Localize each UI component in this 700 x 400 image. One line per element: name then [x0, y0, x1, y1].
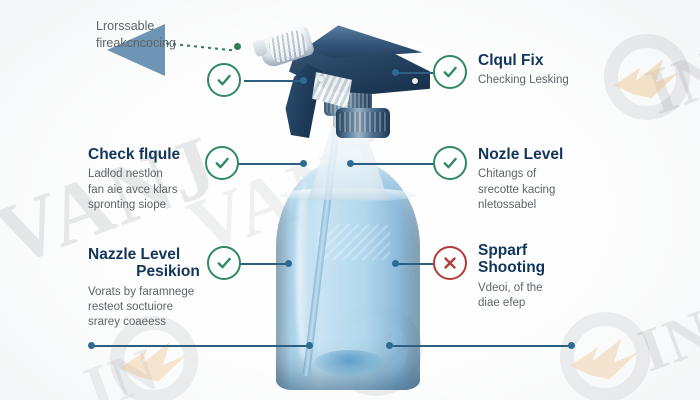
callout-nozle-level: Nozle Level Chitangs of srecotte kacing … — [478, 146, 638, 213]
callout-title: Check flqule — [88, 146, 238, 163]
spray-bottle-illustration — [232, 2, 462, 398]
callout-title: Nozle Level — [478, 146, 638, 163]
connector-node-bottom-left-start — [88, 342, 95, 349]
cross-circle-icon — [441, 254, 459, 272]
callout-title-line-1: Spparf — [478, 242, 628, 259]
connector-line-check-flqule — [244, 80, 304, 82]
callout-desc-line-1: Chitangs of — [478, 167, 638, 182]
watermark-logo-ring — [560, 312, 650, 400]
callout-check-flqule: Check flqule Ladlod nestlon fan aie avce… — [88, 146, 238, 213]
connector-node-bottom-left-end — [306, 342, 313, 349]
callout-desc-line-2: resteot soctuiore — [88, 300, 248, 315]
connector-node-bottom-right-end — [568, 342, 575, 349]
infographic-canvas: VANJ VANJ IN IN IN — [0, 0, 700, 400]
callout-title: Clqul Fix — [478, 52, 648, 69]
callout-nazzle-level-pesikion: Nazzle Level Pesikion Vorats by faramneg… — [88, 246, 248, 330]
connector-line-bottom-right — [390, 345, 570, 347]
callout-spparf-shooting: Spparf Shooting Vdeoi, of the diae efep — [478, 242, 628, 311]
lead-note-line-1: Lrorssable — [96, 18, 236, 35]
check-circle-icon — [215, 71, 233, 89]
sprayer-screw-right — [412, 78, 418, 84]
watermark-logo-bottom-right — [560, 312, 650, 400]
callout-desc-line-1: Checking Lesking — [478, 73, 648, 88]
bottle-embossed-text — [318, 224, 390, 260]
status-badge-clqul-fix[interactable] — [433, 55, 467, 89]
callout-clqul-fix: Clqul Fix Checking Lesking — [478, 52, 648, 89]
connector-node-bottom-right-start — [386, 342, 393, 349]
status-badge-trigger[interactable] — [207, 63, 241, 97]
lead-note: Lrorssable fireakcncocing — [96, 18, 236, 52]
status-badge-spparf-shooting[interactable] — [433, 246, 467, 280]
callout-desc-line-3: nletossabel — [478, 198, 638, 213]
watermark-logo-bird-icon — [117, 335, 191, 388]
callout-desc-line-1: Vorats by faramnege — [88, 285, 248, 300]
connector-node-clqul-fix — [392, 69, 399, 76]
connector-line-spparf-shooting — [396, 263, 436, 265]
connector-node-check-flqule-head — [300, 77, 307, 84]
connector-line-clqul-fix — [396, 72, 436, 74]
connector-node-spparf-shooting — [392, 260, 399, 267]
connector-line-bottom-left — [92, 345, 310, 347]
sprayer-cap — [336, 108, 390, 138]
check-circle-icon — [441, 63, 459, 81]
callout-desc-line-3: srarey coaeess — [88, 315, 248, 330]
callout-title-line-2: Pesikion — [88, 263, 248, 280]
callout-desc-line-2: diae efep — [478, 296, 628, 311]
callout-desc-line-1: Vdeoi, of the — [478, 281, 628, 296]
callout-desc-line-1: Ladlod nestlon — [88, 167, 238, 182]
bottle-base-reflection — [314, 350, 384, 376]
sprayer-screw-left — [318, 76, 324, 82]
trigger-sprayer-head — [244, 10, 449, 130]
callout-title-line-2: Shooting — [478, 259, 628, 276]
connector-node-check-flqule — [300, 160, 307, 167]
callout-desc-line-2: fan aie avce klars — [88, 183, 238, 198]
watermark-logo-bird-icon — [567, 332, 643, 386]
connector-line-nozle-level — [350, 163, 436, 165]
connector-node-nazzle-pesikion — [285, 260, 292, 267]
check-circle-icon — [441, 154, 459, 172]
callout-desc-line-2: srecotte kacing — [478, 183, 638, 198]
lead-note-line-2: fireakcncocing — [96, 35, 236, 52]
callout-desc-line-3: spronting siope — [88, 198, 238, 213]
connector-node-nozle-level — [347, 160, 354, 167]
callout-title-line-1: Nazzle Level — [88, 246, 248, 263]
watermark-text-right-bottom: IN — [630, 296, 700, 388]
status-badge-nozle-level[interactable] — [433, 146, 467, 180]
